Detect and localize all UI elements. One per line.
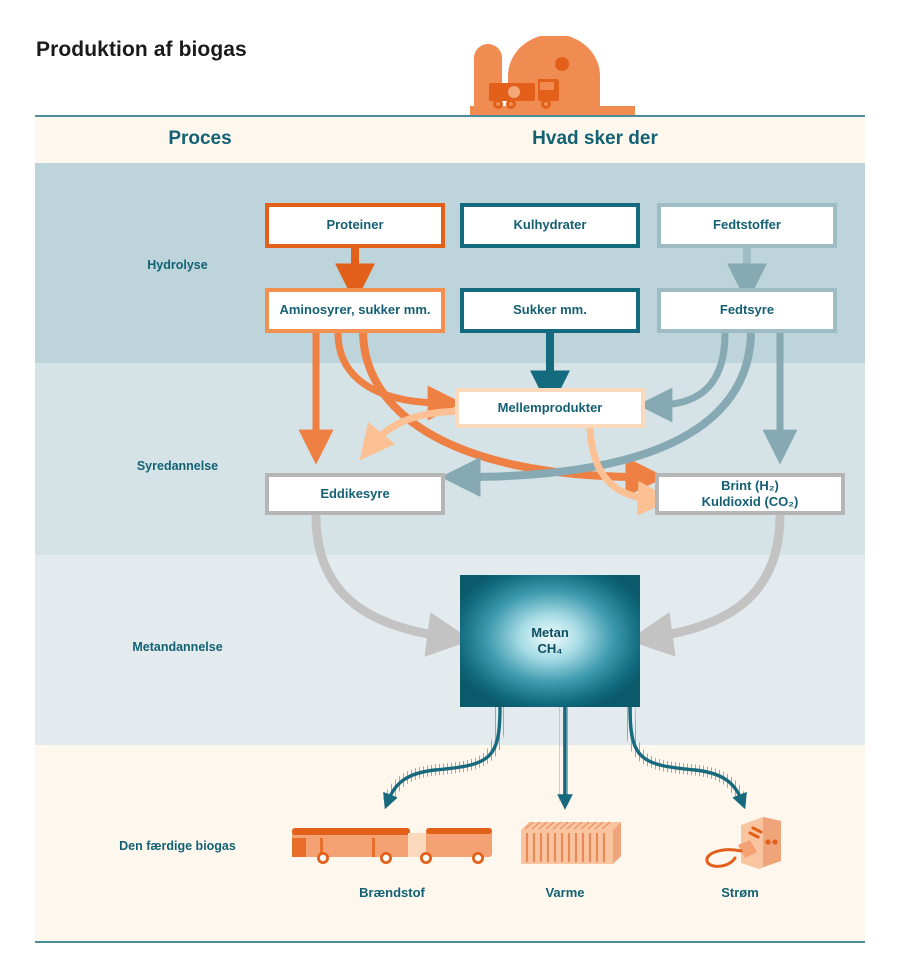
node-metan[interactable]: Metan CH₄ [460, 575, 640, 707]
kuldioxid-line: Kuldioxid (CO₂) [702, 494, 799, 510]
node-mellemprodukter[interactable]: Mellemprodukter [455, 388, 645, 428]
node-fedtsyre[interactable]: Fedtsyre [657, 288, 837, 333]
metan-formula: CH₄ [538, 641, 563, 657]
row-label-den-faerdige-biogas: Den færdige biogas [75, 839, 280, 853]
page-title: Produktion af biogas [36, 38, 247, 62]
biogas-plant-truck-icon [470, 36, 635, 118]
node-aminosyrer[interactable]: Aminosyrer, sukker mm. [265, 288, 445, 333]
row-label-syredannelse: Syredannelse [75, 459, 280, 473]
node-proteiner[interactable]: Proteiner [265, 203, 445, 248]
metan-label: Metan [531, 625, 569, 641]
row-label-hydrolyse: Hydrolyse [75, 258, 280, 272]
node-kulhydrater[interactable]: Kulhydrater [460, 203, 640, 248]
node-brint-kuldioxid[interactable]: Brint (H₂) Kuldioxid (CO₂) [655, 473, 845, 515]
column-header-proces: Proces [95, 115, 305, 163]
power-outlet-plug-icon [683, 813, 795, 876]
radiator-icon [513, 818, 625, 875]
output-label-braendstof: Brændstof [307, 885, 477, 900]
node-sukker[interactable]: Sukker mm. [460, 288, 640, 333]
output-label-varme: Varme [480, 885, 650, 900]
output-label-stroem: Strøm [655, 885, 825, 900]
node-fedtstoffer[interactable]: Fedtstoffer [657, 203, 837, 248]
brint-line: Brint (H₂) [721, 478, 779, 494]
row-label-metandannelse: Metandannelse [75, 640, 280, 654]
process-diagram: Proces Hvad sker der Hydrolyse Syredanne… [35, 115, 865, 941]
node-eddikesyre[interactable]: Eddikesyre [265, 473, 445, 515]
articulated-bus-icon [290, 820, 495, 875]
column-header-hvad-sker-der: Hvad sker der [335, 115, 855, 163]
